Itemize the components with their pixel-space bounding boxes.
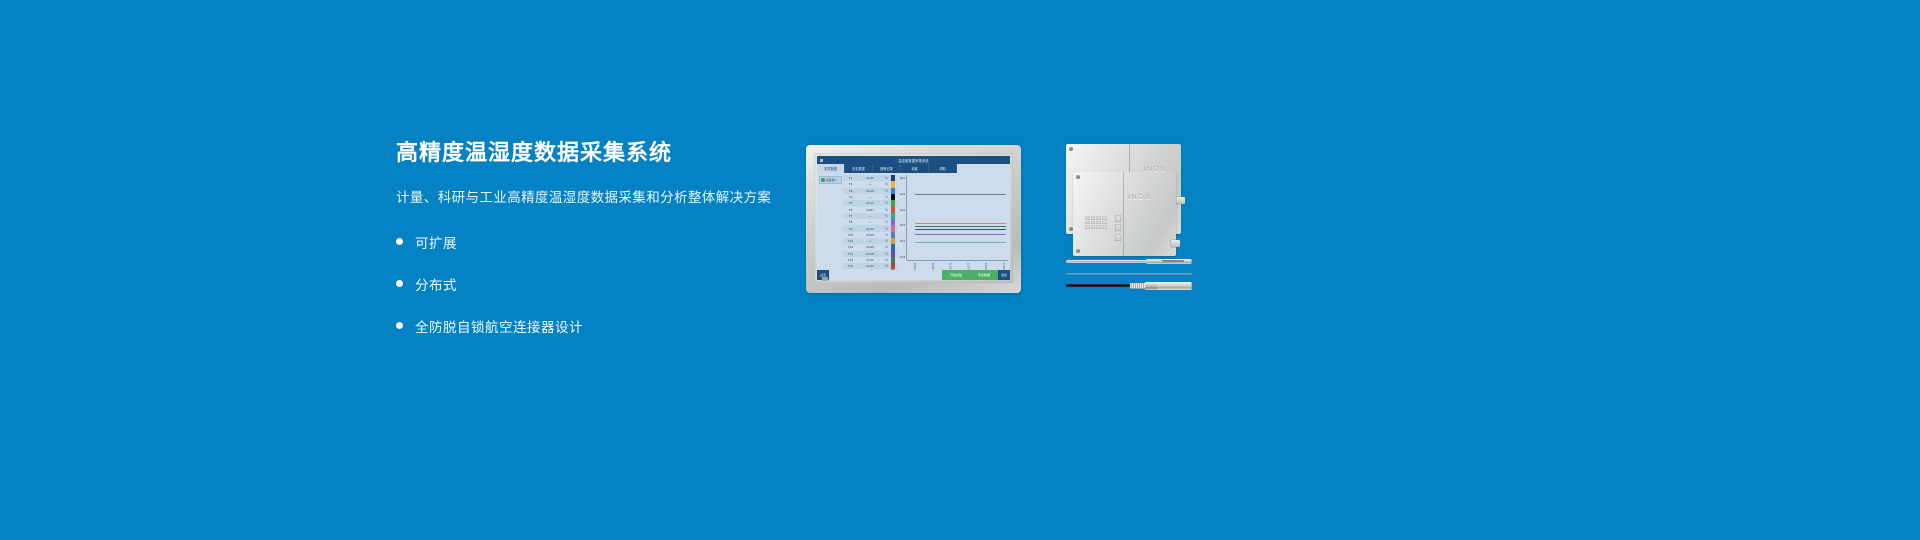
cell-value: ---	[858, 220, 882, 224]
screen-bottom-bar: 设置 开始采集 导出数据 退出	[817, 270, 1010, 280]
chart-plot-area	[907, 175, 1008, 260]
cell-channel: T10	[843, 233, 858, 237]
feature-bullet-1-label: 可扩展	[415, 232, 457, 252]
screen-title-bar: 温湿度数据采集系统	[817, 156, 1010, 164]
module-port-icon	[1171, 240, 1180, 247]
module-key	[1091, 216, 1096, 220]
tab-realtime-data[interactable]: 实时数据	[817, 164, 845, 173]
cell-unit: ℃	[882, 214, 891, 218]
module-key	[1085, 221, 1090, 225]
cell-channel: T7	[843, 214, 858, 218]
cell-value: ---	[858, 195, 882, 199]
cell-unit: ℃	[882, 195, 891, 199]
cell-channel: T13	[843, 252, 858, 256]
chart-series-line	[915, 194, 1006, 195]
cell-unit: ℃	[882, 227, 891, 231]
blue-sensor-cable	[1066, 272, 1192, 276]
module-connector-icon	[1115, 215, 1121, 222]
module-connector-icon	[1115, 234, 1121, 241]
tab-help[interactable]: 帮助	[929, 164, 957, 173]
cell-unit: ℃	[882, 220, 891, 224]
module-key	[1096, 216, 1101, 220]
bullet-dot-icon	[396, 238, 403, 245]
cell-value: ---	[858, 239, 882, 243]
module-port-icon	[1176, 197, 1185, 204]
cell-channel: T12	[843, 245, 858, 249]
tab-realtime-data-label: 实时数据	[824, 166, 837, 171]
export-data-button-label: 导出数据	[978, 273, 990, 277]
module-key	[1096, 225, 1101, 229]
screen-app-title: 温湿度数据采集系统	[898, 158, 929, 163]
cell-channel: T1	[843, 176, 858, 180]
chart-x-tick-label: 12:30	[1002, 263, 1005, 270]
cell-unit: ℃	[882, 245, 891, 249]
chart-y-tick-label: 23.0	[900, 239, 905, 243]
cell-unit: ℃	[882, 258, 891, 262]
window-menu-icon	[820, 159, 823, 162]
module-key	[1102, 216, 1107, 220]
temperature-probe	[1066, 258, 1192, 265]
device-tree-panel: 采集器 1	[817, 173, 843, 270]
chart-series-line	[915, 226, 1006, 227]
cell-channel: T3	[843, 189, 858, 193]
start-capture-button-label: 开始采集	[950, 273, 962, 277]
feature-bullet-3-label: 全防脱自锁航空连接器设计	[415, 316, 583, 336]
chart-series-line	[915, 242, 1006, 243]
feature-bullet-list: 可扩展 分布式 全防脱自锁航空连接器设计	[396, 228, 826, 339]
chart-y-tick-label: 24.5	[900, 192, 905, 196]
cell-value: 21.85	[858, 176, 882, 180]
chart-x-tick-label: 11:30	[966, 263, 969, 269]
module-keypad-icon	[1085, 216, 1107, 229]
cable-ferrule	[1130, 283, 1146, 289]
cell-unit: ℃	[882, 176, 891, 180]
page-title: 高精度温湿度数据采集系统	[396, 140, 826, 166]
chart-series-line	[915, 234, 1006, 235]
cell-value: 23.87	[858, 208, 882, 212]
cell-unit: ℃	[882, 264, 891, 268]
cell-value: 23.12	[858, 201, 882, 205]
module-key	[1091, 225, 1096, 229]
cable-body	[1066, 273, 1192, 275]
status-indicator-icon	[821, 178, 825, 182]
cell-channel: T14	[843, 258, 858, 262]
cell-channel: T8	[843, 220, 858, 224]
screw-icon	[1076, 249, 1080, 253]
chart-y-axis: 25.024.524.023.523.022.5	[898, 175, 907, 260]
chart-x-tick-label: 11:00	[949, 263, 952, 269]
screw-icon	[1069, 147, 1073, 151]
channel-table: T121.85℃T2---℃T324.19℃T4---℃T523.12℃T623…	[843, 173, 897, 270]
chart-series-line	[915, 229, 1006, 230]
cable-body	[1066, 284, 1134, 287]
cell-value: 24.28	[858, 252, 882, 256]
export-data-button[interactable]: 导出数据	[970, 270, 998, 280]
screen-tab-bar: 实时数据 历史数据 报警记录 设置 帮助	[817, 164, 1010, 173]
start-capture-button[interactable]: 开始采集	[942, 270, 970, 280]
feature-bullet-2: 分布式	[396, 270, 826, 297]
cell-value: 24.90	[858, 264, 882, 268]
cell-value: ---	[858, 214, 882, 218]
tablet-device: 温湿度数据采集系统 实时数据 历史数据 报警记录 设置 帮助	[806, 145, 1021, 293]
cell-channel: T15	[843, 264, 858, 268]
chart-y-tick-label: 25.0	[900, 176, 905, 180]
chart-x-tick-label: 10:30	[931, 263, 934, 270]
chart-y-tick-label: 24.0	[900, 208, 905, 212]
module-key	[1102, 225, 1107, 229]
feature-bullet-3: 全防脱自锁航空连接器设计	[396, 312, 826, 339]
module-seam-line	[1123, 172, 1124, 256]
cell-value: 24.19	[858, 189, 882, 193]
module-connector-icon	[1115, 224, 1121, 231]
module-key	[1085, 216, 1090, 220]
chart-y-tick-label: 22.5	[900, 255, 905, 259]
cell-channel: T5	[843, 201, 858, 205]
tab-alarm-log-label: 报警记录	[880, 166, 893, 171]
cell-channel: T4	[843, 195, 858, 199]
cell-unit: ℃	[882, 189, 891, 193]
cell-value: 24.66	[858, 233, 882, 237]
cell-unit: ℃	[882, 182, 891, 186]
exit-button-label: 退出	[1001, 273, 1007, 277]
feature-bullet-1: 可扩展	[396, 228, 826, 255]
connector-barrel	[1157, 282, 1192, 290]
tab-bar-filler	[957, 164, 1010, 173]
module-key	[1091, 221, 1096, 225]
bullet-dot-icon	[396, 322, 403, 329]
cell-channel: T2	[843, 182, 858, 186]
module-key	[1096, 221, 1101, 225]
bottom-bar-filler	[829, 270, 942, 280]
cell-unit: ℃	[882, 239, 891, 243]
screw-icon	[1076, 175, 1080, 179]
hero-text-block: 高精度温湿度数据采集系统 计量、科研与工业高精度温湿度数据采集和分析整体解决方案…	[396, 140, 826, 354]
exit-button[interactable]: 退出	[998, 272, 1010, 279]
tablet-screen: 温湿度数据采集系统 实时数据 历史数据 报警记录 设置 帮助	[817, 156, 1010, 280]
cell-unit: ℃	[882, 233, 891, 237]
probe-stem	[1066, 260, 1150, 263]
tab-help-label: 帮助	[939, 166, 945, 171]
cell-channel: T11	[843, 239, 858, 243]
tab-alarm-log[interactable]: 报警记录	[873, 164, 901, 173]
cell-unit: ℃	[882, 201, 891, 205]
feature-bullet-2-label: 分布式	[415, 274, 457, 294]
probe-slot	[1162, 260, 1184, 261]
device-tree-item-label: 采集器 1	[826, 178, 837, 182]
bullet-dot-icon	[396, 280, 403, 287]
chart-series-line	[915, 223, 1006, 224]
module-key	[1085, 225, 1090, 229]
cell-unit: ℃	[882, 252, 891, 256]
tab-settings[interactable]: 设置	[901, 164, 929, 173]
cell-unit: ℃	[882, 208, 891, 212]
cell-value: ---	[858, 182, 882, 186]
tab-settings-label: 设置	[911, 166, 917, 171]
chart-x-tick-label: 12:00	[984, 263, 987, 270]
cell-channel: T6	[843, 208, 858, 212]
cell-value: 23.96	[858, 245, 882, 249]
cell-value: 24.11	[858, 258, 882, 262]
tab-history-data-label: 历史数据	[852, 166, 865, 171]
page-subtitle: 计量、科研与工业高精度温湿度数据采集和分析整体解决方案	[396, 186, 826, 206]
device-tree-item[interactable]: 采集器 1	[819, 176, 842, 184]
aviation-connector-probe	[1066, 280, 1192, 292]
cell-value: 24.36	[858, 227, 882, 231]
acquisition-module-front: INON	[1073, 172, 1176, 256]
tablet-bezel: 温湿度数据采集系统 实时数据 历史数据 报警记录 设置 帮助	[814, 153, 1013, 283]
chart-y-tick-label: 23.5	[900, 223, 905, 227]
tablet-stand-foot	[822, 277, 828, 281]
module-connector-column	[1115, 215, 1121, 241]
chart-x-tick-label: 10:00	[913, 263, 916, 270]
screen-content: 采集器 1 T121.85℃T2---℃T324.19℃T4---℃T523.1…	[817, 173, 1010, 270]
tab-history-data[interactable]: 历史数据	[845, 164, 873, 173]
module-key	[1102, 221, 1107, 225]
module-brand-label: INON	[1128, 194, 1152, 201]
trend-chart: 25.024.524.023.523.022.5 10:0010:3011:00…	[898, 175, 1008, 270]
cell-channel: T9	[843, 227, 858, 231]
